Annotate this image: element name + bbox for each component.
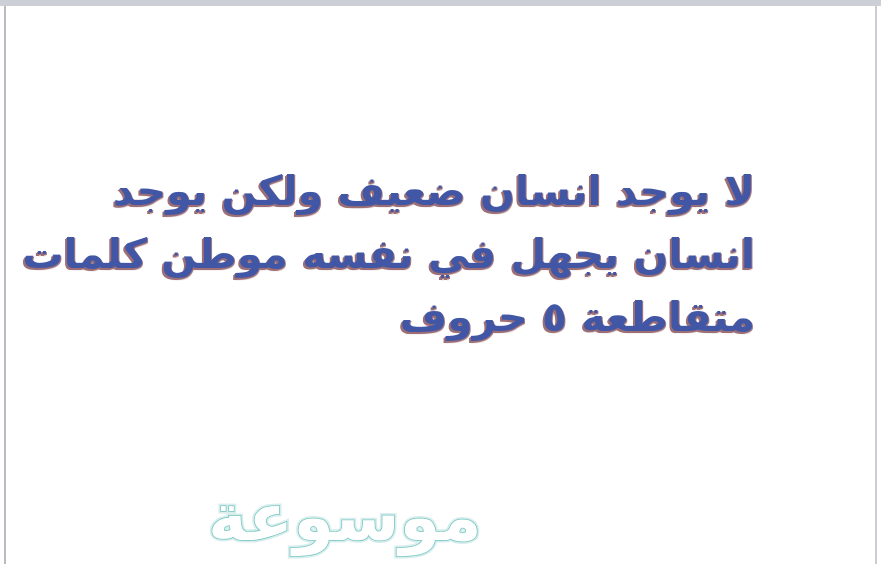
quote-line-3: متقاطعة ٥ حروف bbox=[145, 286, 755, 349]
quote-block: لا يوجد انسان ضعيف ولكن يوجد انسان يجهل … bbox=[145, 160, 755, 349]
page-canvas: لا يوجد انسان ضعيف ولكن يوجد انسان يجهل … bbox=[0, 0, 881, 564]
frame-top-bar bbox=[0, 0, 881, 6]
brand-logo-icon: موسوعة موسوعة bbox=[12, 470, 212, 562]
brand-logo-text: موسوعة bbox=[208, 479, 482, 557]
frame-left-rule bbox=[4, 6, 6, 564]
quote-line-1: لا يوجد انسان ضعيف ولكن يوجد bbox=[145, 160, 755, 223]
brand-logo-watermark[interactable]: موسوعة موسوعة bbox=[12, 470, 212, 562]
quote-line-2: انسان يجهل في نفسه موطن كلمات bbox=[145, 223, 755, 286]
frame-right-rule bbox=[875, 6, 877, 564]
